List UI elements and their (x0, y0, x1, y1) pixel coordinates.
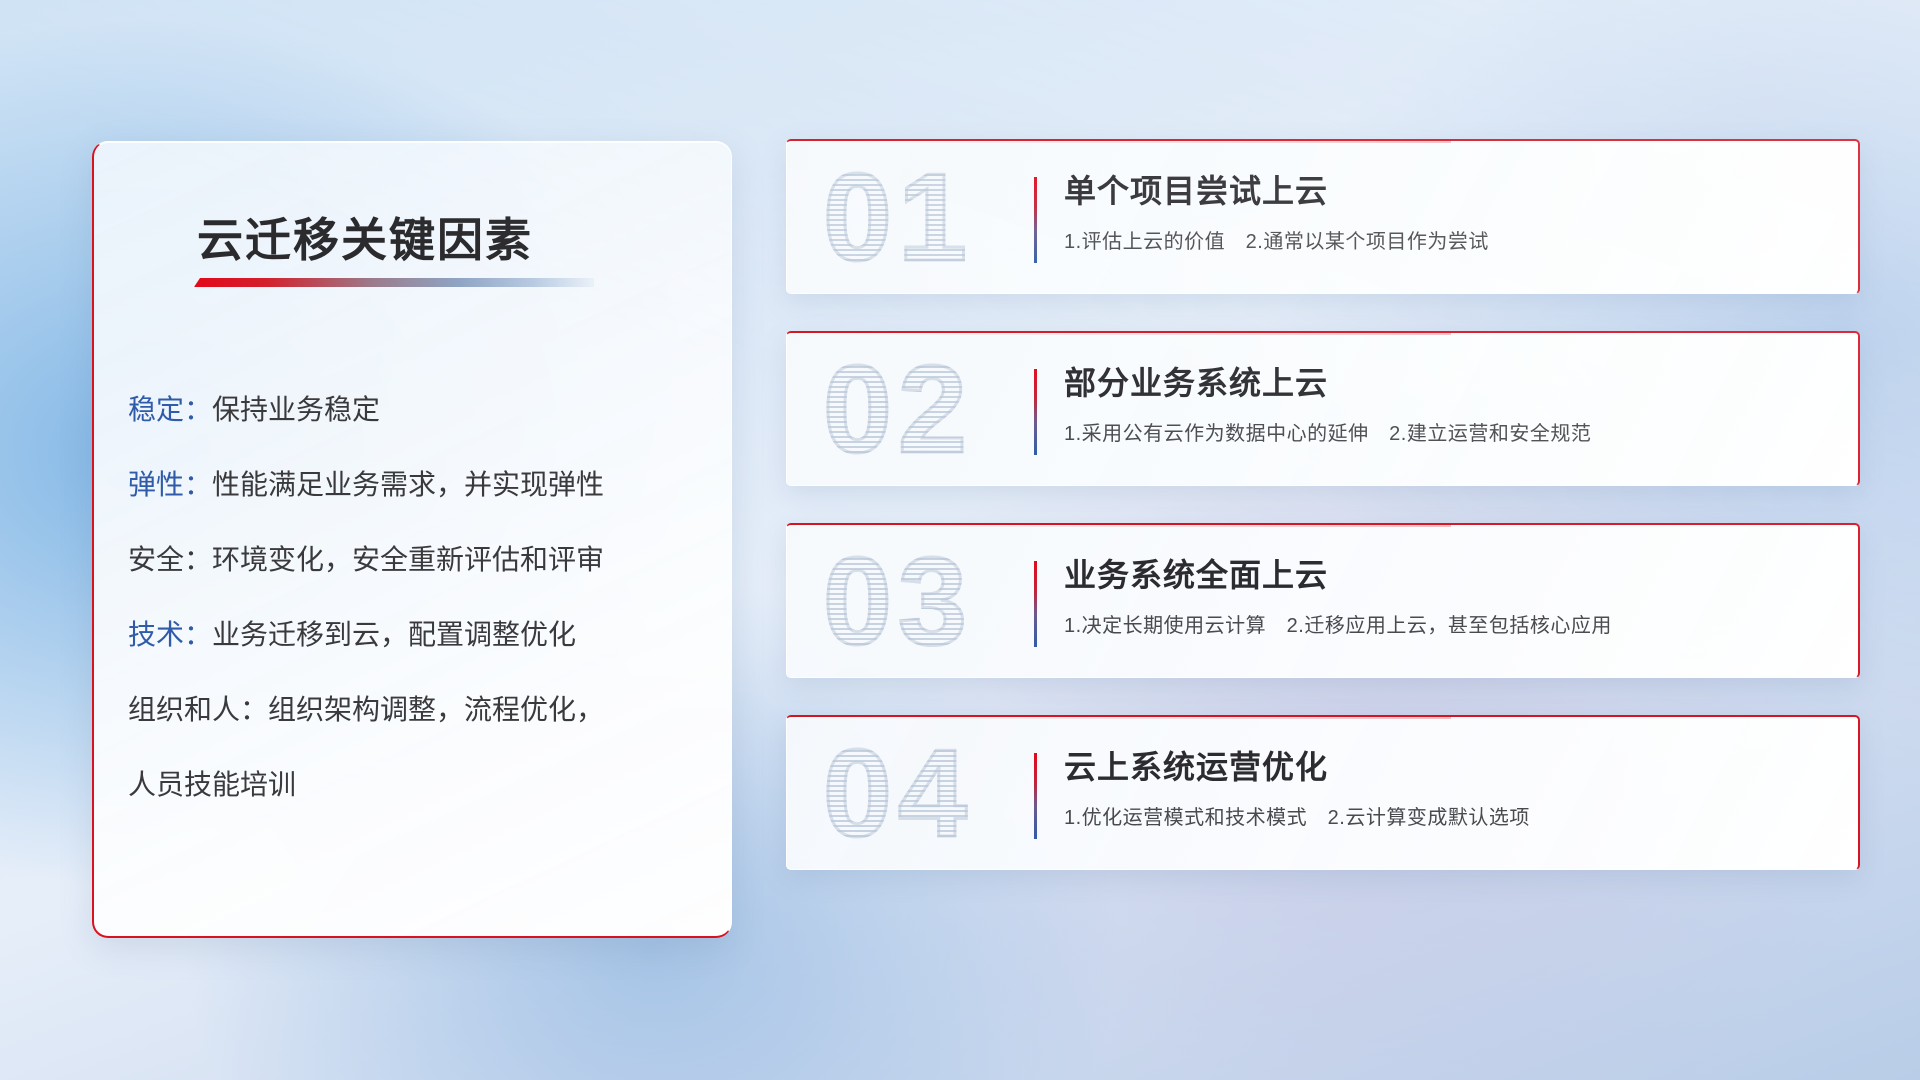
step-number-glyph: 03 (823, 523, 1023, 678)
key-factors-list: 稳定： 保持业务稳定 弹性： 性能满足业务需求，并实现弹性 安全： 环境变化，安… (94, 370, 731, 820)
step-title: 部分业务系统上云 (1064, 363, 1828, 403)
step-content: 云上系统运营优化 1.优化运营模式和技术模式 2.云计算变成默认选项 (1064, 747, 1828, 830)
factor-label: 弹性： (128, 463, 212, 503)
step-number-glyph: 01 (823, 139, 1023, 294)
step-subtitle: 1.决定长期使用云计算 2.迁移应用上云，甚至包括核心应用 (1064, 609, 1828, 638)
step-divider (1034, 177, 1037, 263)
factor-label: 技术： (128, 613, 212, 653)
title-underline-gradient (194, 278, 594, 287)
migration-steps-list: 01 单个项目尝试上云 1.评估上云的价值 2.通常以某个项目作为尝试 02 部… (786, 139, 1860, 907)
step-subtitle: 1.优化运营模式和技术模式 2.云计算变成默认选项 (1064, 801, 1828, 830)
factor-text: 性能满足业务需求，并实现弹性 (212, 463, 604, 503)
list-item: 组织和人： 组织架构调整，流程优化， (94, 670, 731, 745)
step-title: 云上系统运营优化 (1064, 747, 1828, 787)
step-number-glyph: 02 (823, 331, 1023, 486)
factor-text: 人员技能培训 (128, 763, 296, 803)
step-title: 业务系统全面上云 (1064, 555, 1828, 595)
page-title: 云迁移关键因素 (197, 204, 533, 270)
list-item: 弹性： 性能满足业务需求，并实现弹性 (94, 445, 731, 520)
step-divider (1034, 561, 1037, 647)
step-card-02[interactable]: 02 部分业务系统上云 1.采用公有云作为数据中心的延伸 2.建立运营和安全规范 (786, 331, 1860, 486)
slide-canvas: 云迁移关键因素 稳定： 保持业务稳定 弹性： 性能满足业务需求，并实现弹性 安全… (0, 0, 1920, 1080)
factor-text: 保持业务稳定 (212, 388, 380, 428)
step-number-glyph: 04 (823, 715, 1023, 870)
factor-text: 环境变化，安全重新评估和评审 (212, 538, 604, 578)
step-subtitle: 1.采用公有云作为数据中心的延伸 2.建立运营和安全规范 (1064, 417, 1828, 446)
list-item: 人员技能培训 (94, 745, 731, 820)
step-content: 单个项目尝试上云 1.评估上云的价值 2.通常以某个项目作为尝试 (1064, 171, 1828, 254)
step-content: 部分业务系统上云 1.采用公有云作为数据中心的延伸 2.建立运营和安全规范 (1064, 363, 1828, 446)
list-item: 稳定： 保持业务稳定 (94, 370, 731, 445)
factor-label: 稳定： (128, 388, 212, 428)
step-card-04[interactable]: 04 云上系统运营优化 1.优化运营模式和技术模式 2.云计算变成默认选项 (786, 715, 1860, 870)
step-card-01[interactable]: 01 单个项目尝试上云 1.评估上云的价值 2.通常以某个项目作为尝试 (786, 139, 1860, 294)
key-factors-card: 云迁移关键因素 稳定： 保持业务稳定 弹性： 性能满足业务需求，并实现弹性 安全… (92, 141, 732, 938)
list-item: 技术： 业务迁移到云，配置调整优化 (94, 595, 731, 670)
factor-text: 业务迁移到云，配置调整优化 (212, 613, 576, 653)
step-title: 单个项目尝试上云 (1064, 171, 1828, 211)
factor-label: 组织和人： (128, 688, 268, 728)
step-content: 业务系统全面上云 1.决定长期使用云计算 2.迁移应用上云，甚至包括核心应用 (1064, 555, 1828, 638)
step-card-03[interactable]: 03 业务系统全面上云 1.决定长期使用云计算 2.迁移应用上云，甚至包括核心应… (786, 523, 1860, 678)
step-divider (1034, 753, 1037, 839)
step-divider (1034, 369, 1037, 455)
step-subtitle: 1.评估上云的价值 2.通常以某个项目作为尝试 (1064, 225, 1828, 254)
factor-label: 安全： (128, 538, 212, 578)
list-item: 安全： 环境变化，安全重新评估和评审 (94, 520, 731, 595)
factor-text: 组织架构调整，流程优化， (268, 688, 604, 728)
